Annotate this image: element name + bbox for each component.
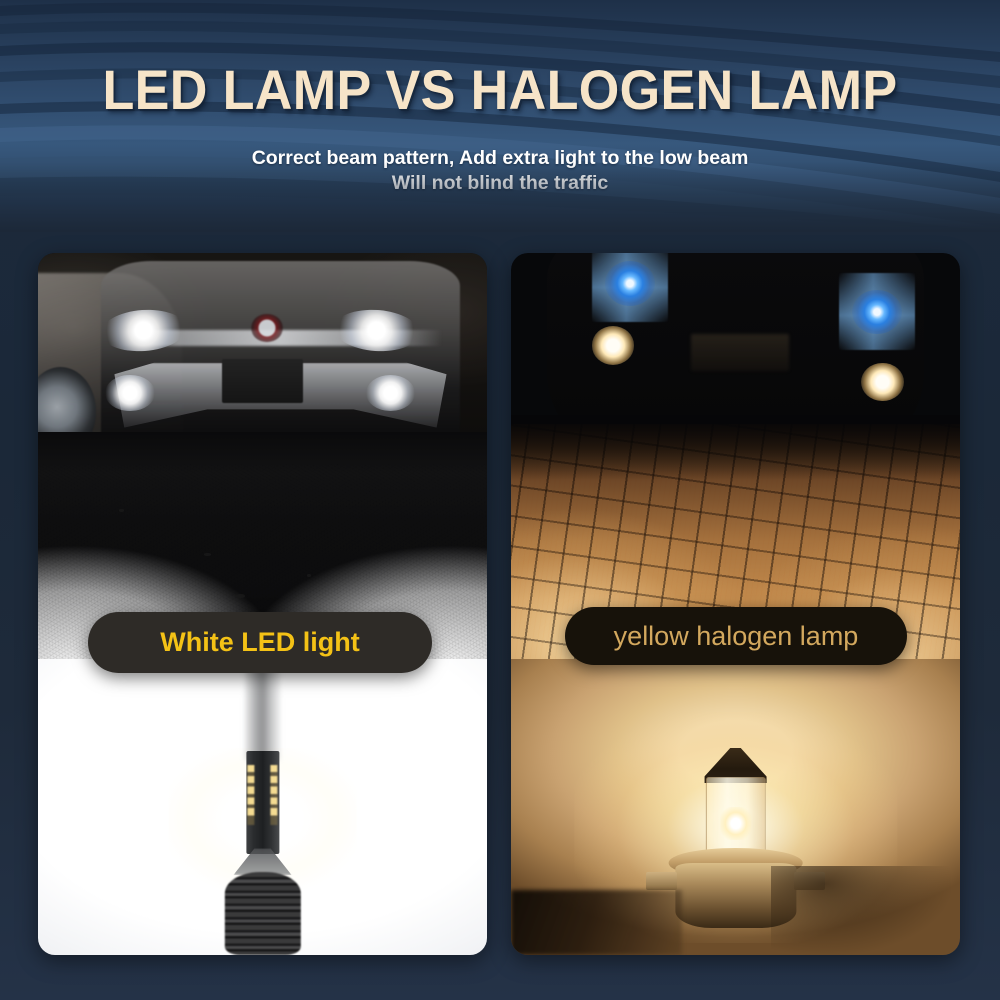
halogen-low-beam-left	[592, 326, 635, 365]
led-bulb-scene	[38, 659, 487, 955]
halogen-caption-label: yellow halogen lamp	[614, 621, 859, 652]
road-debris	[236, 594, 245, 598]
halogen-filament	[720, 807, 751, 840]
led-caption-pill: White LED light	[88, 612, 432, 673]
led-caption-label: White LED light	[160, 627, 359, 658]
header-fade-overlay	[0, 162, 1000, 232]
led-bulb-base	[224, 872, 300, 955]
halogen-beam-photo	[511, 253, 960, 659]
led-bulb-upper-shaft	[244, 659, 281, 760]
blue-marker-light-right	[852, 290, 901, 335]
road-debris	[119, 509, 124, 512]
promo-graphic: LED LAMP VS HALOGEN LAMP Correct beam pa…	[0, 0, 1000, 1000]
halogen-base-tab-left	[646, 872, 677, 890]
header-banner: LED LAMP VS HALOGEN LAMP Correct beam pa…	[0, 0, 1000, 232]
led-bulb-core	[246, 751, 279, 855]
led-fog-light-left	[105, 375, 154, 412]
halogen-panel: yellow halogen lamp	[511, 253, 960, 955]
led-night-scene	[38, 253, 487, 659]
blue-marker-light-left	[605, 261, 654, 306]
halogen-night-scene	[511, 253, 960, 659]
license-plate-recess	[222, 359, 303, 404]
page-title: LED LAMP VS HALOGEN LAMP	[35, 57, 965, 122]
halogen-license-plate	[691, 334, 790, 371]
halogen-caption-pill: yellow halogen lamp	[565, 607, 907, 665]
comparison-panels: White LED light	[38, 253, 960, 955]
honda-emblem-icon	[251, 314, 282, 342]
halogen-bulb-wiring	[511, 890, 682, 955]
led-chip-column-left	[247, 765, 254, 825]
halogen-bulb-photo	[511, 659, 960, 955]
halogen-bulb-shadow	[771, 866, 951, 955]
led-chip-column-right	[270, 765, 277, 825]
halogen-bulb-scene	[511, 659, 960, 955]
ground-shadow-gradient	[511, 415, 960, 480]
halogen-low-beam-right	[861, 363, 904, 402]
led-panel: White LED light	[38, 253, 487, 955]
road-debris	[307, 574, 311, 577]
led-beam-photo	[38, 253, 487, 659]
led-bulb-photo	[38, 659, 487, 955]
